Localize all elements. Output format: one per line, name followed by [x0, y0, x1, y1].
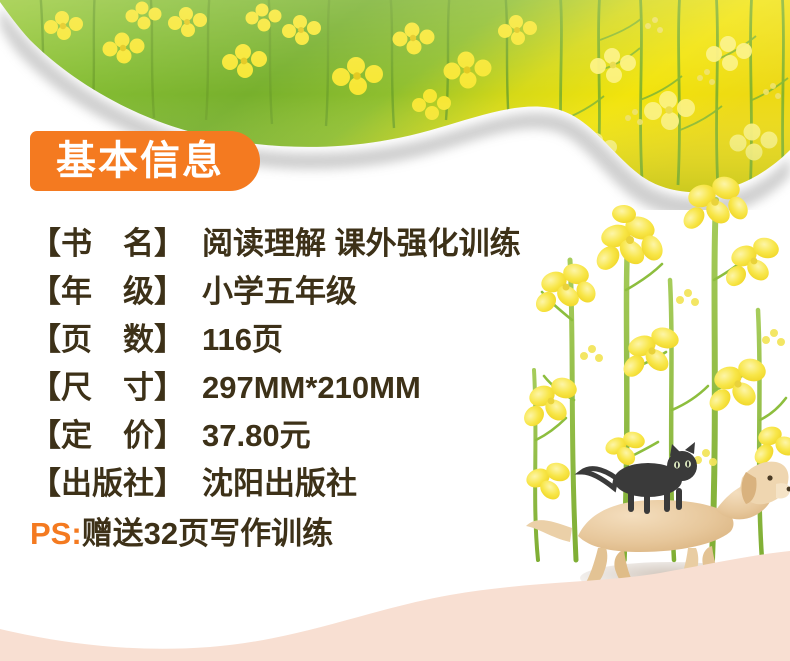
info-value-publisher: 沈阳出版社 [202, 458, 357, 503]
ground-shadow [580, 562, 760, 594]
info-row-publisher: 【出版社】 沈阳出版社 [30, 458, 590, 506]
book-info-promo-page: 基本信息 【书 名】 阅读理解 课外强化训练 【年 级】 小学五年级 【页 数】… [0, 0, 790, 661]
info-row-size: 【尺 寸】 297MM*210MM [30, 362, 590, 410]
info-label-title: 【书 名】 [30, 218, 202, 263]
info-value-title: 阅读理解 课外强化训练 [202, 218, 521, 263]
info-label-size: 【尺 寸】 [30, 362, 202, 407]
info-row-ps: PS: 赠送32页写作训练 [30, 508, 590, 556]
info-value-price: 37.80元 [202, 410, 311, 455]
info-row-grade: 【年 级】 小学五年级 [30, 266, 590, 314]
section-heading-badge: 基本信息 [30, 131, 260, 191]
info-label-price: 【定 价】 [30, 410, 202, 455]
info-label-publisher: 【出版社】 [30, 458, 202, 503]
bottom-pink-wave [0, 551, 790, 661]
section-heading-label: 基本信息 [56, 141, 224, 181]
info-value-grade: 小学五年级 [202, 266, 357, 311]
info-row-pages: 【页 数】 116页 [30, 314, 590, 362]
info-value-pages: 116页 [202, 314, 283, 359]
info-row-title: 【书 名】 阅读理解 课外强化训练 [30, 218, 590, 266]
book-info-list: 【书 名】 阅读理解 课外强化训练 【年 级】 小学五年级 【页 数】 116页… [30, 218, 590, 556]
black-cat [582, 442, 697, 514]
info-value-size: 297MM*210MM [202, 370, 421, 406]
info-row-price: 【定 价】 37.80元 [30, 410, 590, 458]
info-label-grade: 【年 级】 [30, 266, 202, 311]
ps-prefix-label: PS: [30, 516, 82, 552]
info-label-pages: 【页 数】 [30, 314, 202, 359]
ps-text-label: 赠送32页写作训练 [82, 508, 333, 553]
